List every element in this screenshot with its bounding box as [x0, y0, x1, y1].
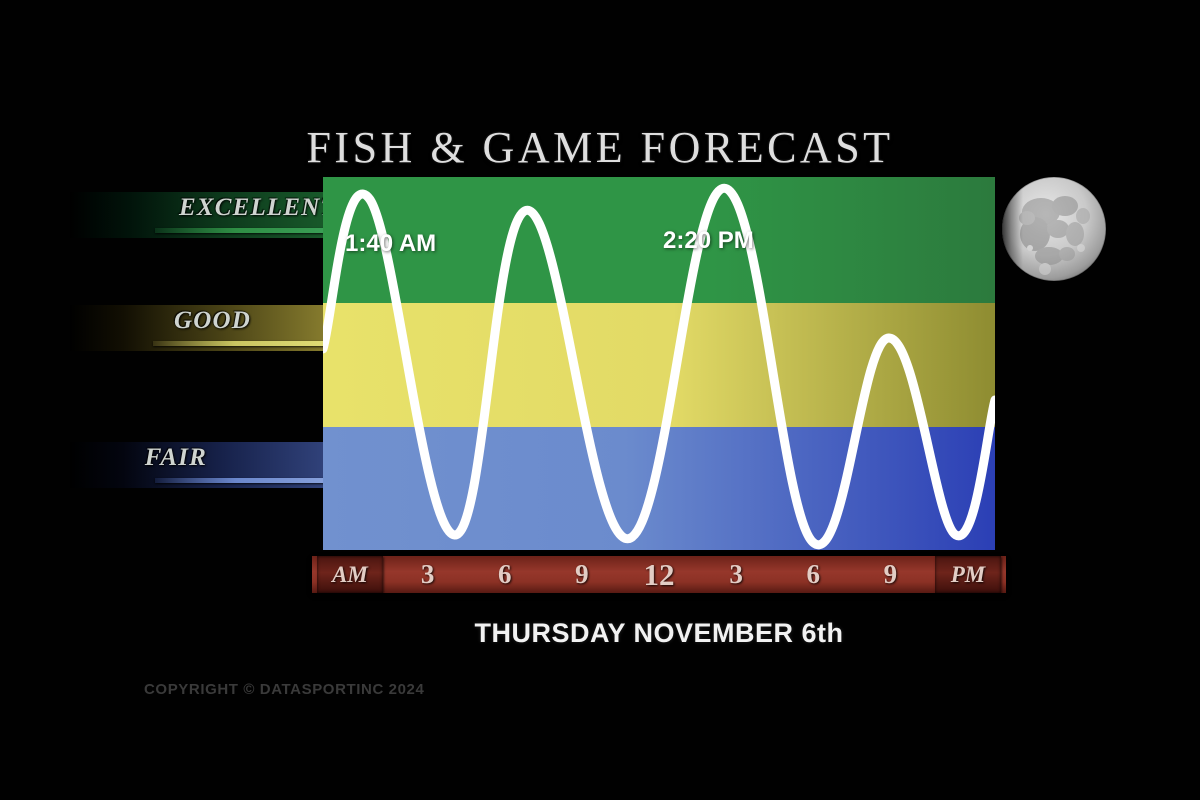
- peak-time-afternoon: 2:20 PM: [663, 227, 754, 255]
- axis-tick-9-7: 9: [852, 556, 929, 593]
- copyright-notice: COPYRIGHT © DATASPORTINC 2024: [144, 681, 424, 698]
- forecast-panel: FISH & GAME FORECAST EXCELLENT GOOD FAIR…: [0, 0, 1200, 800]
- axis-tick-3-1: 3: [389, 556, 466, 593]
- axis-tick-6-2: 6: [466, 556, 543, 593]
- axis-tick-12-4: 12: [620, 556, 697, 593]
- axis-tick-6-6: 6: [775, 556, 852, 593]
- legend-item-fair: FAIR: [70, 442, 335, 488]
- axis-tick-pm-8: PM: [935, 556, 1001, 593]
- time-axis: AM36912369PM: [312, 556, 1006, 593]
- legend-label-excellent: EXCELLENT: [179, 194, 337, 222]
- axis-tick-am-0: AM: [317, 556, 383, 593]
- legend-underline-fair: [155, 478, 335, 483]
- forecast-date: THURSDAY NOVEMBER 6th: [323, 618, 995, 649]
- axis-tick-3-5: 3: [698, 556, 775, 593]
- legend-underline-good: [153, 341, 335, 346]
- page-title: FISH & GAME FORECAST: [0, 122, 1200, 173]
- peak-time-morning: 1:40 AM: [345, 230, 436, 258]
- legend-item-excellent: EXCELLENT: [70, 192, 335, 238]
- legend-underline-excellent: [155, 228, 335, 233]
- legend-label-good: GOOD: [174, 307, 251, 335]
- legend-label-fair: FAIR: [145, 444, 207, 472]
- axis-tick-9-3: 9: [543, 556, 620, 593]
- activity-chart: 1:40 AM 2:20 PM: [323, 177, 995, 550]
- legend-item-good: GOOD: [70, 305, 335, 351]
- moon-phase-icon: [997, 172, 1111, 286]
